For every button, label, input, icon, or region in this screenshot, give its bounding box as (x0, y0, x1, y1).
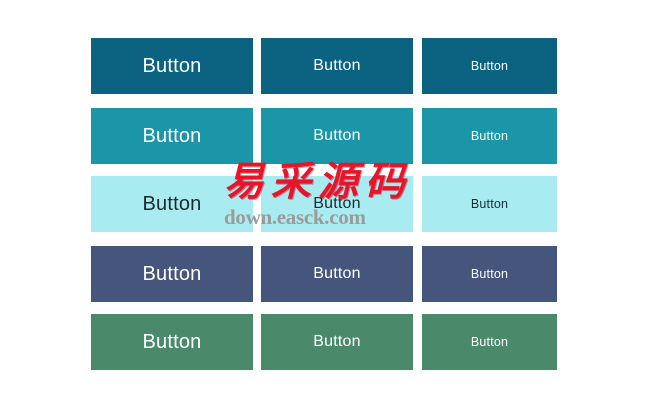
button-green-large[interactable]: Button (91, 314, 253, 370)
button-light-cyan-large[interactable]: Button (91, 176, 253, 232)
button-slate-blue-medium[interactable]: Button (261, 246, 413, 302)
button-slate-blue-small[interactable]: Button (422, 246, 557, 302)
button-dark-teal-large[interactable]: Button (91, 38, 253, 94)
button-row-slate-blue: Button Button Button (91, 246, 557, 302)
button-row-dark-teal: Button Button Button (91, 38, 557, 94)
button-row-green: Button Button Button (91, 314, 557, 370)
button-teal-small[interactable]: Button (422, 108, 557, 164)
button-row-light-cyan: Button Button Button (91, 176, 557, 232)
button-dark-teal-medium[interactable]: Button (261, 38, 413, 94)
button-teal-large[interactable]: Button (91, 108, 253, 164)
button-row-teal: Button Button Button (91, 108, 557, 164)
button-green-medium[interactable]: Button (261, 314, 413, 370)
button-dark-teal-small[interactable]: Button (422, 38, 557, 94)
button-green-small[interactable]: Button (422, 314, 557, 370)
button-showcase-canvas: Button Button Button Button Button Butto… (0, 0, 650, 400)
button-light-cyan-small[interactable]: Button (422, 176, 557, 232)
button-slate-blue-large[interactable]: Button (91, 246, 253, 302)
button-teal-medium[interactable]: Button (261, 108, 413, 164)
button-light-cyan-medium[interactable]: Button (261, 176, 413, 232)
